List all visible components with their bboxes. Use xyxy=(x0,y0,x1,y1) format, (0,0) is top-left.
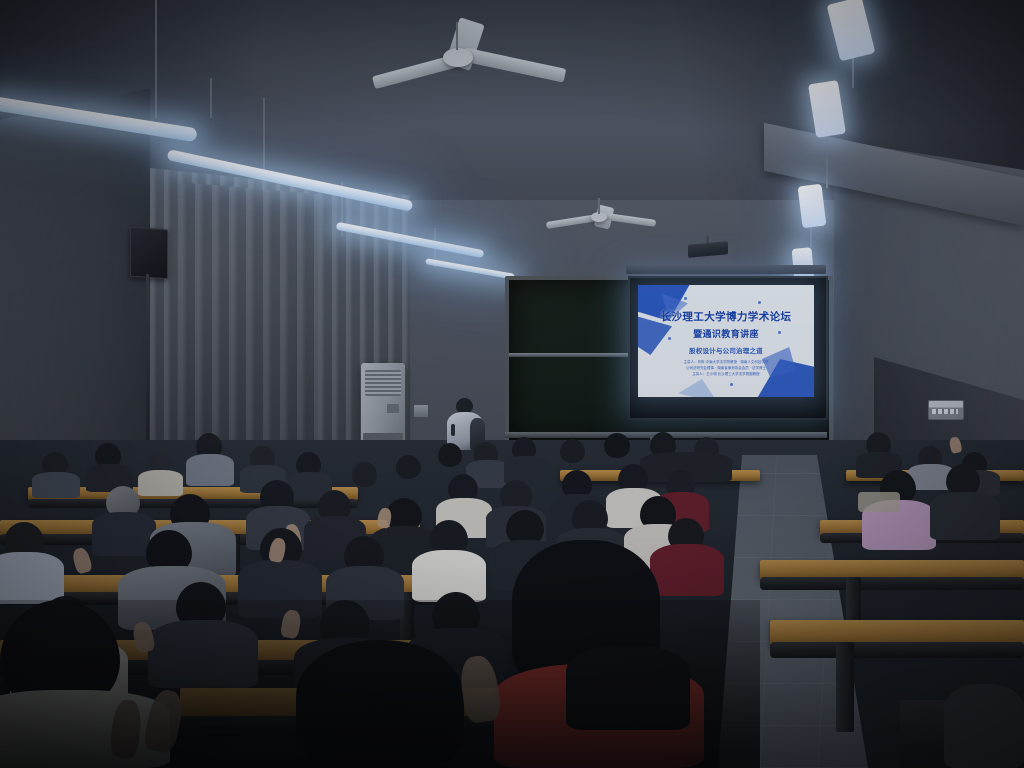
air-conditioner-panel xyxy=(387,404,399,413)
light-rod xyxy=(155,0,157,118)
wall-socket-icon xyxy=(414,405,428,417)
control-panel-buttons xyxy=(932,409,958,414)
pendant-rod xyxy=(826,130,828,188)
air-conditioner-base xyxy=(363,433,403,440)
speaker-cable xyxy=(146,274,149,449)
slide-topic: 股权设计与公司治理之道 xyxy=(638,345,814,355)
floor-shadow xyxy=(0,600,760,768)
slide-credits-line3: 主持人：王小明 长沙理工大学法学院副教授 xyxy=(652,371,800,377)
window-curtain-secondary xyxy=(178,182,318,474)
speaker-icon xyxy=(130,227,168,280)
slide-text-block: 长沙理工大学博力学术论坛 暨通识教育讲座 股权设计与公司治理之道 主讲人：刘烨 … xyxy=(638,285,814,397)
slide-title-line1: 长沙理工大学博力学术论坛 xyxy=(638,309,814,324)
presentation-slide: 长沙理工大学博力学术论坛 暨通识教育讲座 股权设计与公司治理之道 主讲人：刘烨 … xyxy=(638,285,814,397)
lecture-hall-photo: 长沙理工大学博力学术论坛 暨通识教育讲座 股权设计与公司治理之道 主讲人：刘烨 … xyxy=(0,0,1024,768)
light-rod xyxy=(210,78,212,118)
light-rod xyxy=(263,98,265,176)
slide-credits: 主讲人：刘烨 中南大学法学院教授 · 湖南人文科技学院 公司法研究会理事 · 湖… xyxy=(652,359,800,378)
slide-title-line2: 暨通识教育讲座 xyxy=(638,327,814,340)
pendant-light xyxy=(798,184,827,229)
air-conditioner-grill xyxy=(365,370,401,396)
screen-roller xyxy=(626,265,826,274)
